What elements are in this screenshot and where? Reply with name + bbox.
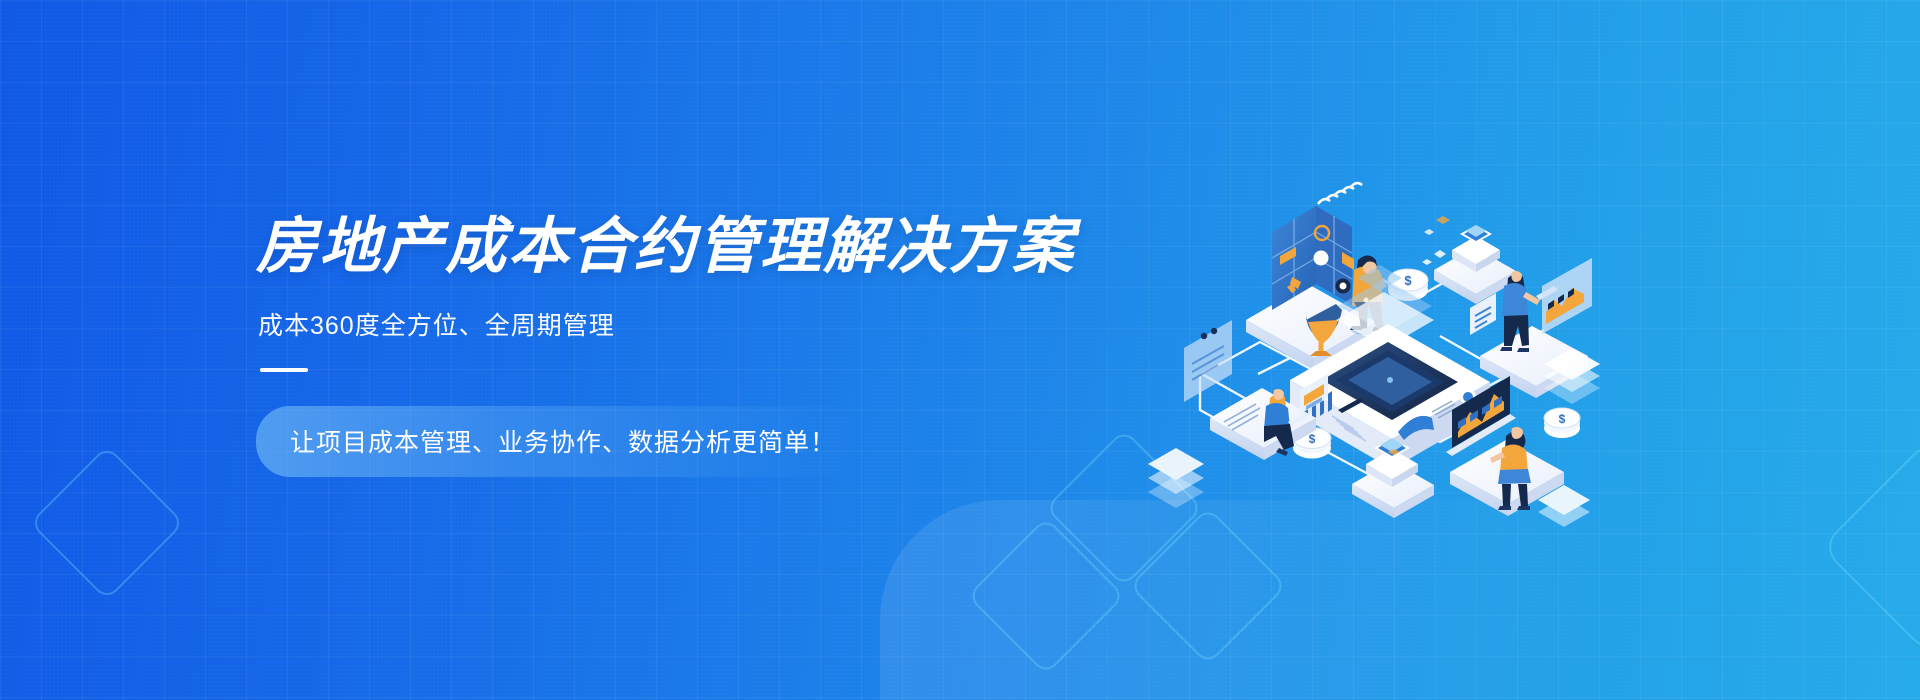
page-title: 房地产成本合约管理解决方案	[256, 212, 1076, 280]
layer-stack-cards	[1148, 448, 1204, 508]
chart-screen	[1542, 258, 1592, 334]
svg-text:$: $	[1309, 432, 1316, 446]
decor-diamond-icon	[1820, 438, 1920, 656]
hero-copy-block: 房地产成本合约管理解决方案 成本360度全方位、全周期管理 让项目成本管理、业务…	[256, 212, 1076, 477]
pedestal-top	[1422, 225, 1516, 304]
spiral-binding	[1318, 183, 1362, 204]
hero-illustration: $	[1140, 160, 1600, 540]
tagline-badge: 让项目成本管理、业务协作、数据分析更简单！	[256, 406, 870, 477]
decor-diamond-icon	[967, 517, 1125, 675]
coin-stack-icon: $	[1544, 408, 1580, 438]
page-subtitle: 成本360度全方位、全周期管理	[258, 306, 1076, 342]
title-divider	[260, 368, 308, 372]
hero-banner: 房地产成本合约管理解决方案 成本360度全方位、全周期管理 让项目成本管理、业务…	[0, 0, 1920, 700]
document-card	[1184, 320, 1232, 402]
svg-text:$: $	[1404, 273, 1412, 288]
decor-diamond-icon	[29, 445, 185, 601]
svg-text:$: $	[1559, 412, 1566, 426]
isometric-illustration-svg: $	[1140, 160, 1600, 540]
